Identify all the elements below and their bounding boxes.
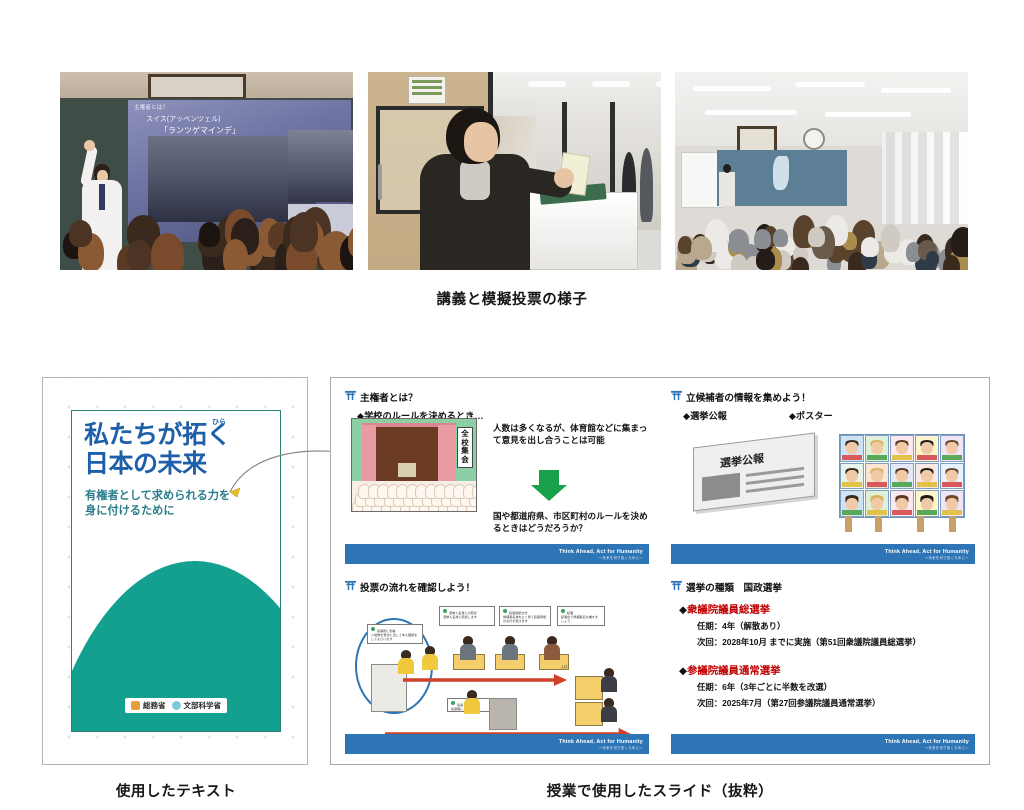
slide-footer: Think Ahead, Act for Humanity ～未来を切り拓くため… bbox=[671, 734, 975, 754]
mock-voting-photo bbox=[368, 72, 661, 270]
stage-curtain-right bbox=[438, 425, 456, 485]
election-entry-2-heading: ◆参議院議員通常選挙 bbox=[679, 662, 975, 677]
torii-icon bbox=[345, 580, 356, 591]
flow-person-casting bbox=[463, 690, 481, 720]
photo-row: 主権者とは？ スイス(アッペンツェル) 「ランツゲマインデ」 bbox=[60, 72, 968, 270]
audience-heads bbox=[675, 150, 968, 270]
ceiling-light bbox=[795, 82, 865, 87]
writing-booth-1 bbox=[575, 676, 603, 700]
election-entry-1-next: 次回：2028年10月 までに実施（第51回衆議院議員総選挙） bbox=[697, 636, 975, 648]
slide-title-text: 主権者とは？ bbox=[360, 390, 418, 404]
poster-board-illustration bbox=[839, 434, 965, 518]
textbook-caption: 使用したテキスト bbox=[42, 780, 310, 801]
publisher-logos: 総務省 文部科学省 bbox=[125, 698, 227, 713]
slide-title-text: 投票の流れを確認しよう！ bbox=[360, 580, 475, 594]
assembly-illustration: 全校集会 bbox=[351, 418, 477, 512]
wall-frame bbox=[148, 74, 246, 100]
flow-guide-staff bbox=[421, 646, 439, 672]
writing-booth-2 bbox=[575, 702, 603, 726]
ballot-box-illustration bbox=[489, 698, 517, 730]
textbook-panel: ひら 私たちが拓く 日本の未来 有権者として求められる力を 身に付けるために 総… bbox=[42, 377, 308, 765]
ceiling-light bbox=[881, 88, 951, 93]
ceiling-light bbox=[705, 110, 797, 115]
slide-title-row: 主権者とは？ bbox=[345, 390, 649, 404]
ceiling-light bbox=[693, 86, 771, 91]
soumusho-logo: 総務省 bbox=[131, 700, 166, 711]
flow-person-writing-2 bbox=[601, 698, 617, 724]
footer-subtagline: ～未来を切り拓くために～ bbox=[599, 555, 643, 560]
election-entry-1-heading: ◆衆議院議員総選挙 bbox=[679, 601, 975, 616]
torii-icon bbox=[671, 390, 682, 401]
slide-election-types: 選挙の種類 国政選挙 ◆衆議院議員総選挙 任期：4年（解散あり） 次回：2028… bbox=[661, 572, 985, 760]
flow-person-writing-1 bbox=[601, 668, 617, 694]
student-face bbox=[464, 122, 498, 162]
diamond-bullet-icon: ◆ bbox=[679, 605, 687, 616]
flow-step-1-desc: 入場券を受付に出して本人確認をしてもらいます bbox=[371, 634, 419, 642]
footer-subtagline: ～未来を切り拓くために～ bbox=[925, 745, 969, 750]
blackboard: 主権者とは？ スイス(アッペンツェル) 「ランツゲマインデ」 bbox=[60, 98, 353, 270]
photos-caption: 講義と模擬投票の様子 bbox=[0, 288, 1024, 309]
posted-notice bbox=[408, 76, 446, 104]
audience-heads bbox=[60, 212, 353, 270]
projected-slide-line1: スイス(アッペンツェル) bbox=[146, 114, 220, 124]
election-entry-2-next: 次回：2025年7月（第27回参議院議員通常選挙） bbox=[697, 697, 975, 709]
flow-staff-3 bbox=[543, 636, 561, 658]
student-inner-shirt bbox=[460, 160, 490, 200]
podium bbox=[398, 463, 416, 477]
flow-step-3-bubble: 投票用紙交付 候補者名簿をよく見て投票用紙の交付を受けます bbox=[499, 606, 551, 626]
slide-footer: Think Ahead, Act for Humanity ～未来を切り拓くため… bbox=[345, 734, 649, 754]
wall-clock bbox=[803, 128, 825, 150]
flow-step-4-bubble: 記載 記載台で候補者名を書きましょう bbox=[557, 606, 605, 626]
slide-shukensha: 主権者とは？ ◆学校のルールを決めるとき… 全校集会 人数は多くなるが、体育館な… bbox=[335, 382, 659, 570]
assembly-students bbox=[352, 481, 476, 511]
stage-curtain-left bbox=[362, 425, 376, 485]
slide-title-text: 選挙の種類 国政選挙 bbox=[686, 580, 782, 594]
footer-subtagline: ～未来を切り拓くために～ bbox=[599, 745, 643, 750]
election-gazette-illustration: 選挙公報 bbox=[693, 433, 815, 512]
slide-bullet-right: ◆ポスター bbox=[789, 408, 833, 422]
lecturer-necktie bbox=[99, 184, 105, 210]
slide-footer: Think Ahead, Act for Humanity ～未来を切り拓くため… bbox=[671, 544, 975, 564]
flow-step-1-bubble: 投票所に到着 入場券を受付に出して本人確認をしてもらいます bbox=[367, 624, 423, 644]
slides-panel: 主権者とは？ ◆学校のルールを決めるとき… 全校集会 人数は多くなるが、体育館な… bbox=[330, 377, 990, 765]
slide-title-row: 投票の流れを確認しよう！ bbox=[345, 580, 649, 594]
slide-footer: Think Ahead, Act for Humanity ～未来を切り拓くため… bbox=[345, 544, 649, 564]
cover-subtitle-line2: 身に付けるために bbox=[85, 504, 270, 519]
slide-text-block-2: 国や都道府県、市区町村のルールを決めるときはどうだろうか？ bbox=[493, 510, 653, 535]
ceiling-light bbox=[825, 112, 911, 117]
projected-slide-title: 主権者とは？ bbox=[134, 104, 168, 112]
footer-subtagline: ～未来を切り拓くために～ bbox=[925, 555, 969, 560]
background-person bbox=[640, 148, 653, 222]
voting-flow-diagram: 投票所に到着 入場券を受付に出して本人確認をしてもらいます 選挙人名簿との照合 … bbox=[343, 602, 651, 728]
election-entry-2-term: 任期：6年（3年ごとに半数を改選） bbox=[697, 681, 975, 693]
torii-icon bbox=[671, 580, 682, 591]
government-seal-icon bbox=[131, 701, 140, 710]
slide-title-row: 立候補者の情報を集めよう！ bbox=[671, 390, 975, 404]
election-entry-1-term: 任期：4年（解散あり） bbox=[697, 620, 975, 632]
flow-person-voter bbox=[397, 650, 415, 680]
slide-text-block-1: 人数は多くなるが、体育館などに集まって意見を出し合うことは可能 bbox=[493, 422, 653, 447]
slide-title-row: 選挙の種類 国政選挙 bbox=[671, 580, 975, 594]
flow-staff-1 bbox=[459, 636, 477, 658]
lecturer-hand bbox=[84, 140, 95, 151]
projected-image-b bbox=[288, 130, 353, 202]
flow-step-2-desc: 選挙人名簿と照合します bbox=[443, 616, 491, 620]
flow-step-2-bubble: 選挙人名簿との照合 選挙人名簿と照合します bbox=[439, 606, 495, 626]
publisher-name-2: 文部科学省 bbox=[184, 700, 222, 711]
ceiling-light bbox=[592, 81, 630, 87]
poster-board-legs bbox=[839, 516, 963, 532]
student-hand bbox=[554, 168, 574, 188]
ceiling-light bbox=[656, 81, 661, 87]
gazette-line bbox=[746, 483, 804, 493]
door-handle bbox=[378, 164, 382, 200]
slide-candidate-info: 立候補者の情報を集めよう！ ◆選挙公報 ◆ポスター 選挙公報 Think Ahe… bbox=[661, 382, 985, 570]
diamond-bullet-icon: ◆ bbox=[679, 666, 687, 677]
publisher-name-1: 総務省 bbox=[143, 700, 166, 711]
flow-in-label: 入口 bbox=[561, 664, 567, 669]
gazette-photo-block bbox=[702, 473, 740, 502]
monbukagakusho-logo: 文部科学省 bbox=[172, 700, 222, 711]
slides-caption: 授業で使用したスライド（抜粋） bbox=[330, 780, 990, 801]
slide-title-text: 立候補者の情報を集めよう！ bbox=[686, 390, 811, 404]
ceiling-light bbox=[528, 81, 566, 87]
gazette-label: 選挙公報 bbox=[720, 450, 764, 471]
lecture-hall-photo bbox=[675, 72, 968, 270]
slide-voting-flow: 投票の流れを確認しよう！ 投票所に到着 入場券を受付に出して本人確認をしてもらい… bbox=[335, 572, 659, 760]
flow-staff-2 bbox=[501, 636, 519, 658]
lecture-slide-photo: 主権者とは？ スイス(アッペンツェル) 「ランツゲマインデ」 bbox=[60, 72, 353, 270]
projected-slide-line2: 「ランツゲマインデ」 bbox=[160, 125, 240, 136]
ministry-seal-icon bbox=[172, 701, 181, 710]
flow-step-3-desc: 候補者名簿をよく見て投票用紙の交付を受けます bbox=[503, 616, 547, 624]
flow-step-4-desc: 記載台で候補者名を書きましょう bbox=[561, 616, 601, 624]
torii-icon bbox=[345, 390, 356, 401]
slide-bullet-left: ◆選挙公報 bbox=[683, 408, 727, 422]
assembly-label: 全校集会 bbox=[457, 427, 473, 468]
